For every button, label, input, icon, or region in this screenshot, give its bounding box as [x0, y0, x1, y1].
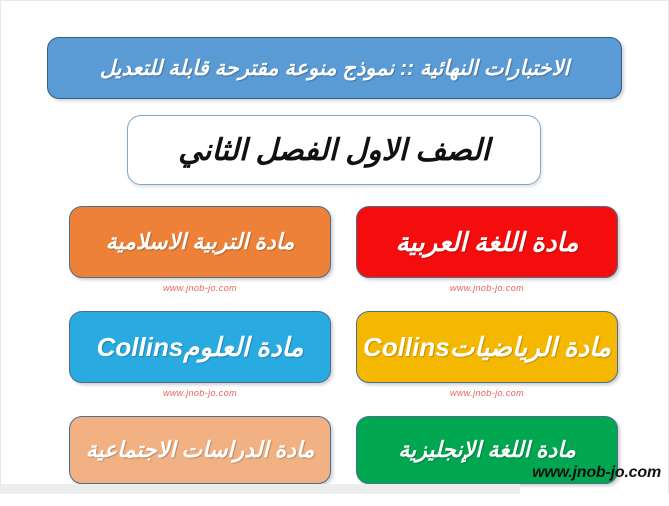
watermark-arabic-language: www.jnob-jo.com: [356, 283, 618, 293]
subject-button-social-studies[interactable]: مادة الدراسات الاجتماعية: [69, 416, 331, 484]
subject-cell-science: مادة العلومCollins www.jnob-jo.com: [69, 311, 331, 398]
watermark-islamic-education: www.jnob-jo.com: [69, 283, 331, 293]
header-banner-title: الاختبارات النهائية :: نموذج منوعة مقترح…: [100, 56, 570, 81]
subject-cell-social-studies: مادة الدراسات الاجتماعية: [69, 416, 331, 484]
subject-label-social-studies: مادة الدراسات الاجتماعية: [86, 437, 315, 463]
header-banner: الاختبارات النهائية :: نموذج منوعة مقترح…: [47, 37, 622, 99]
subject-cell-arabic: مادة اللغة العربية www.jnob-jo.com: [356, 206, 618, 293]
subject-label-english-language: مادة اللغة الإنجليزية: [398, 437, 576, 463]
subject-label-islamic-education: مادة التربية الاسلامية: [106, 229, 295, 255]
subject-button-arabic-language[interactable]: مادة اللغة العربية: [356, 206, 618, 278]
site-watermark: www.jnob-jo.com: [532, 464, 661, 482]
subject-button-islamic-education[interactable]: مادة التربية الاسلامية: [69, 206, 331, 278]
watermark-mathematics: www.jnob-jo.com: [356, 388, 618, 398]
subject-row-2: مادة العلومCollins www.jnob-jo.com مادة …: [0, 311, 669, 416]
subject-label-mathematics: مادة الرياضياتCollins: [363, 332, 611, 363]
subject-button-science[interactable]: مادة العلومCollins: [69, 311, 331, 383]
subject-cell-math: مادة الرياضياتCollins www.jnob-jo.com: [356, 311, 618, 398]
bottom-strip: [0, 484, 520, 494]
grade-term-box: الصف الاول الفصل الثاني: [127, 115, 541, 185]
subject-label-arabic-language: مادة اللغة العربية: [396, 227, 579, 258]
watermark-science: www.jnob-jo.com: [69, 388, 331, 398]
page-border-top: [0, 0, 669, 1]
subject-row-1: مادة التربية الاسلامية www.jnob-jo.com م…: [0, 206, 669, 311]
subject-button-mathematics[interactable]: مادة الرياضياتCollins: [356, 311, 618, 383]
subject-cell-islamic: مادة التربية الاسلامية www.jnob-jo.com: [69, 206, 331, 293]
subject-label-science: مادة العلومCollins: [97, 332, 304, 363]
subject-grid: مادة التربية الاسلامية www.jnob-jo.com م…: [0, 206, 669, 506]
page-root: الاختبارات النهائية :: نموذج منوعة مقترح…: [0, 0, 669, 494]
grade-term-title: الصف الاول الفصل الثاني: [178, 133, 490, 168]
